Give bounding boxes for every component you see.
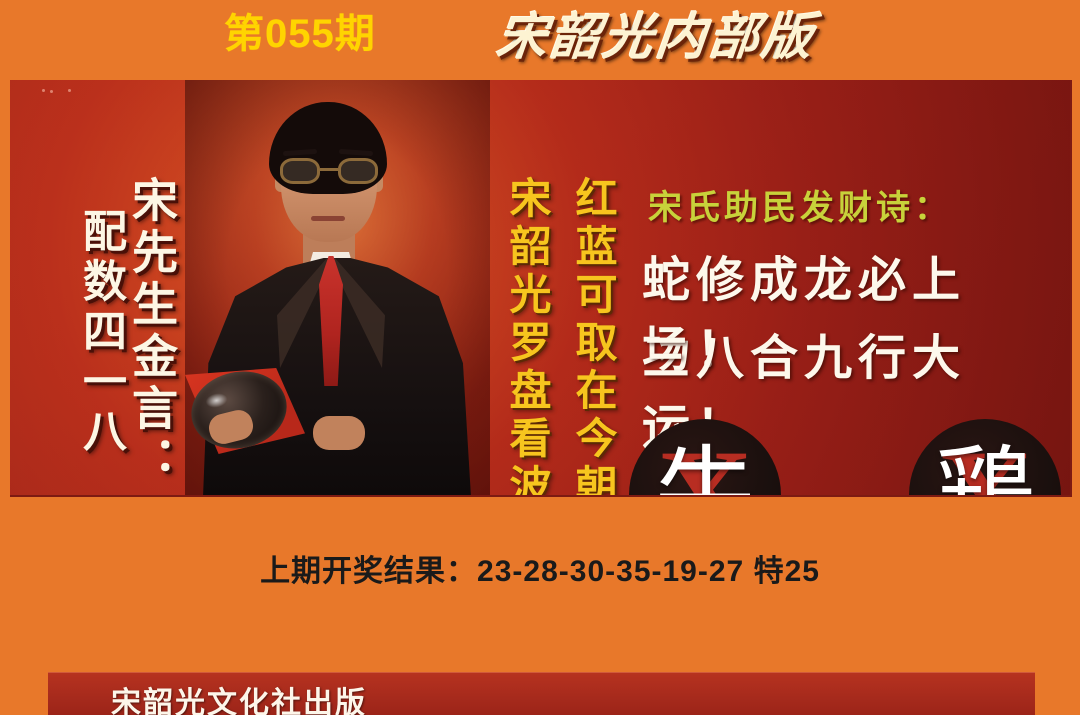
zodiac-glyph-rooster: 鶏 (909, 427, 1061, 497)
masthead-title: 宋韶光内部版 (494, 6, 819, 68)
glasses-lens-left (280, 158, 320, 184)
glasses-lens-right (338, 158, 378, 184)
main-poster-panel: 配数四一八 宋先生金言： 宋韶光罗盘看波诗： 红蓝可取在今朝 宋氏助民发财诗： … (10, 80, 1072, 497)
vertical-text-color-poem: 红蓝可取在今朝 (562, 176, 623, 497)
last-draw-result: 上期开奖结果：23-28-30-35-19-27 特25 (0, 546, 1080, 590)
publisher-label: 宋韶光文化社出版 (111, 678, 367, 715)
zodiac-badge-rooster: X 鶏 (909, 419, 1061, 497)
portrait-photo (185, 80, 490, 497)
poem-heading: 宋氏助民发财诗： (648, 180, 952, 229)
portrait-mouth (311, 216, 345, 221)
header-bar: 第055期 宋韶光内部版 (0, 0, 1080, 80)
issue-number-label: 第055期 (224, 11, 376, 57)
vertical-text-compass-poem: 宋韶光罗盘看波诗： (496, 176, 557, 497)
decor-dot (50, 90, 53, 93)
glasses-icon (280, 158, 380, 184)
zodiac-glyph-ox: 牛 (629, 427, 781, 497)
glasses-bridge (320, 168, 338, 171)
decor-dot (42, 89, 45, 92)
zodiac-badge-ox: X 牛 (629, 419, 781, 497)
footer-band: 宋韶光文化社出版 (48, 672, 1035, 715)
portrait-hand-right (313, 416, 365, 450)
vertical-text-advice: 宋先生金言： (118, 176, 184, 488)
decor-dot (68, 89, 71, 92)
